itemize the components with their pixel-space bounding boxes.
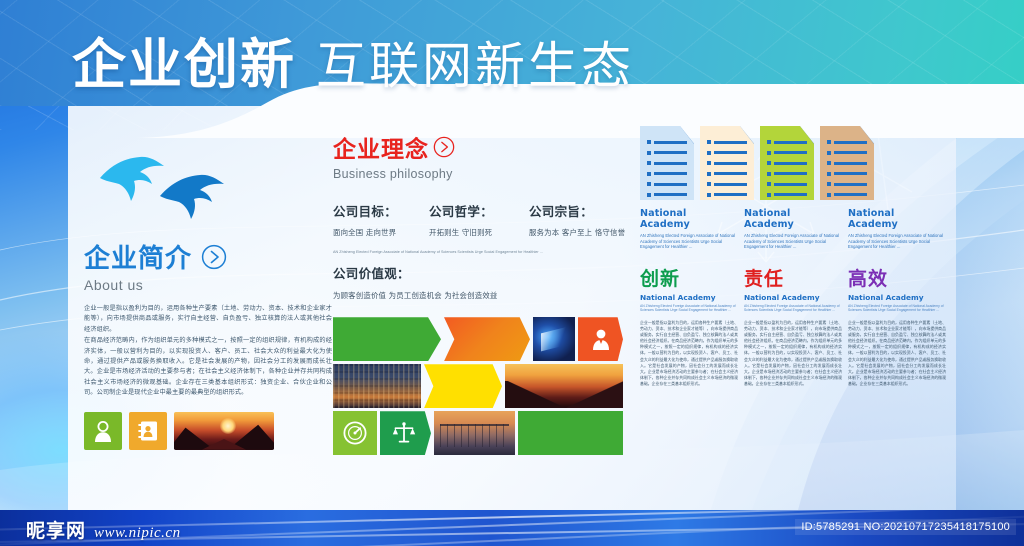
poster-canvas: 企业创新 互联网新生态 [0,0,1024,546]
footer-watermark-bar: 昵享网 www.nipic.cn ID:5785291 NO:202107172… [0,510,1024,546]
keyword-title: 创新 [640,264,738,291]
watermark-url: www.nipic.cn [94,525,181,542]
sunset-mountain-photo [174,412,274,450]
about-paragraph-1: 企业一般是指以盈利为目的，运用各种生产要素（土地、劳动力、资本、技术和企业家才能… [84,304,332,335]
keyword-english: AN Zhisheng Elected Foreign Associate of… [848,304,946,313]
image-id-text: ID:5785291 NO:20210717235418175100 [795,519,1016,535]
philosophy-text: 开拓则生 守旧则死 [429,227,529,238]
chevron-right-circle-icon[interactable] [201,244,227,270]
city-night-photo [333,364,421,408]
caption-heading: National Academy [744,208,842,230]
about-section: 企业简介 About us 企业一般是指以盈利为目的，运用各种生产要素（土地、劳… [84,150,332,450]
about-subtitle: About us [84,277,332,293]
philosophy-col-purpose: 公司宗旨： 服务为本 客户至上 恪守信誉 [529,201,625,238]
title-main: 企业创新 [72,20,296,99]
speedometer-icon [342,420,368,446]
keyword-column-row: 创新 National Academy AN Zhisheng Elected … [640,264,946,387]
purpose-text: 服务为本 客户至上 恪守信誉 [529,227,625,238]
title-sub: 互联网新生态 [316,26,634,98]
document-caption: National Academy AN Zhisheng Elected For… [744,208,842,250]
collage-row [333,411,623,455]
keyword-body: 企业一般是指以盈利为目的，运用各种生产要素（土地、劳动力、资本、技术和企业家才能… [848,320,946,387]
document-card-green [760,126,814,200]
image-collage [333,317,623,455]
keyword-subtitle: National Academy [640,293,738,302]
philosophy-section: 企业理念 Business philosophy 公司目标： 面向全国 走向世界… [333,130,625,458]
philosophy-heading: 公司哲学： [429,201,529,220]
document-caption-row: National Academy AN Zhisheng Elected For… [640,208,946,250]
chevron-right-circle-icon[interactable] [433,136,455,158]
purpose-heading: 公司宗旨： [529,201,625,220]
gauge-icon-tile [333,411,377,455]
about-body-text: 企业一般是指以盈利为目的，运用各种生产要素（土地、劳动力、资本、技术和企业家才能… [84,304,332,399]
caption-heading: National Academy [640,208,738,230]
chevron-yellow-block [424,364,502,408]
two-birds-icon [84,150,332,228]
contact-book-orange-icon[interactable] [129,412,167,450]
philosophy-heading-row: 企业理念 [333,130,625,164]
chevron-green-block [333,317,441,361]
documents-section: National Academy AN Zhisheng Elected For… [640,126,946,387]
scales-chevron-tile [380,411,431,455]
values-text: 为顾客创造价值 为员工创造机会 为社会创造效益 [333,290,625,301]
canyon-photo [505,364,623,408]
caption-heading: National Academy [848,208,946,230]
about-heading-row: 企业简介 [84,238,332,275]
philosophy-english-note: AN Zhisheng Elected Foreign Associate of… [333,250,625,255]
keyword-column-responsibility: 责任 National Academy AN Zhisheng Elected … [744,264,842,387]
keyword-body: 企业一般是指以盈利为目的，运用各种生产要素（土地、劳动力、资本、技术和企业家才能… [640,320,738,387]
keyword-subtitle: National Academy [744,293,842,302]
about-paragraph-2: 在商品经济范畴内，作为组织单元的多种模式之一，按照一定的组织规律，有机构成的经济… [84,336,332,398]
tech-photo [533,317,575,361]
about-title: 企业简介 [84,238,192,275]
balance-scale-icon [392,420,418,446]
document-card-blue [640,126,694,200]
poster-title: 企业创新 互联网新生态 [72,20,634,99]
keyword-title: 高效 [848,264,946,291]
goal-text: 面向全国 走向世界 [333,227,429,238]
keyword-english: AN Zhisheng Elected Foreign Associate of… [744,304,842,313]
about-icon-row [84,412,332,450]
philosophy-title: 企业理念 [333,130,429,164]
keyword-title: 责任 [744,264,842,291]
philosophy-col-goal: 公司目标： 面向全国 走向世界 [333,201,429,238]
keyword-body: 企业一般是指以盈利为目的，运用各种生产要素（土地、劳动力、资本、技术和企业家才能… [744,320,842,387]
document-caption: National Academy AN Zhisheng Elected For… [640,208,738,250]
caption-body: AN Zhisheng Elected Foreign Associate of… [848,233,946,250]
philosophy-subtitle: Business philosophy [333,167,625,181]
goal-heading: 公司目标： [333,201,429,220]
caption-body: AN Zhisheng Elected Foreign Associate of… [640,233,738,250]
caption-body: AN Zhisheng Elected Foreign Associate of… [744,233,842,250]
keyword-column-efficiency: 高效 National Academy AN Zhisheng Elected … [848,264,946,387]
watermark-cn-name: 昵享网 [26,516,86,543]
document-card-tan [820,126,874,200]
keyword-column-innovation: 创新 National Academy AN Zhisheng Elected … [640,264,738,387]
person-orange-icon [578,317,623,361]
document-card-cream [700,126,754,200]
green-block [518,411,623,455]
keyword-subtitle: National Academy [848,293,946,302]
document-card-row [640,126,946,200]
values-heading: 公司价值观： [333,263,625,282]
keyword-english: AN Zhisheng Elected Foreign Associate of… [640,304,738,313]
person-green-icon[interactable] [84,412,122,450]
philosophy-triple-row: 公司目标： 面向全国 走向世界 公司哲学： 开拓则生 守旧则死 公司宗旨： 服务… [333,201,625,238]
chevron-orange-block [444,317,530,361]
site-watermark: 昵享网 www.nipic.cn [26,516,181,543]
collage-row [333,364,623,408]
collage-row [333,317,623,361]
philosophy-col-philosophy: 公司哲学： 开拓则生 守旧则死 [429,201,529,238]
bridge-photo [434,411,515,455]
document-caption: National Academy AN Zhisheng Elected For… [848,208,946,250]
